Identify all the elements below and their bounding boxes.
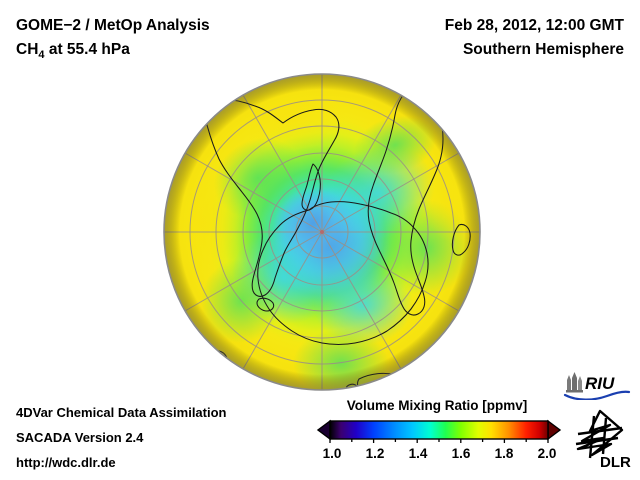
analysis-title: GOME−2 / MetOp Analysis — [16, 14, 210, 38]
colorbar-bar — [310, 419, 568, 443]
figure-footer: 4DVar Chemical Data Assimilation SACADA … — [16, 400, 227, 475]
riu-wordmark: RIU — [585, 374, 615, 393]
timestamp-label: Feb 28, 2012, 12:00 GMT — [445, 14, 624, 38]
figure-title-left: GOME−2 / MetOp Analysis CH4 at 55.4 hPa — [16, 14, 210, 67]
colorbar-tick-4: 1.8 — [495, 446, 514, 461]
figure-canvas: GOME−2 / MetOp Analysis CH4 at 55.4 hPa … — [0, 0, 640, 480]
colorbar-tick-3: 1.6 — [452, 446, 471, 461]
species-name: CH — [16, 41, 38, 58]
colorbar-tick-2: 1.4 — [409, 446, 428, 461]
colorbar-tick-labels: 1.0 1.2 1.4 1.6 1.8 2.0 — [310, 446, 568, 464]
colorbar-tick-1: 1.2 — [366, 446, 385, 461]
dlr-wordmark: DLR — [600, 454, 631, 470]
globe-svg — [163, 73, 481, 391]
colorbar-title: Volume Mixing Ratio [ppmv] — [318, 398, 556, 413]
riu-towers-icon — [566, 372, 583, 393]
footer-url[interactable]: http://wdc.dlr.de — [16, 450, 227, 475]
colorbar-extend-right — [548, 421, 560, 439]
riu-logo: RIU — [563, 370, 631, 400]
coastline-new-zealand-south — [199, 344, 212, 353]
hemisphere-label: Southern Hemisphere — [445, 38, 624, 62]
colorbar-tick-5: 2.0 — [538, 446, 557, 461]
figure-title-right: Feb 28, 2012, 12:00 GMT Southern Hemisph… — [445, 14, 624, 62]
dlr-mark-icon — [576, 411, 622, 458]
colorbar-tick-0: 1.0 — [323, 446, 342, 461]
footer-version: SACADA Version 2.4 — [16, 425, 227, 450]
footer-method: 4DVar Chemical Data Assimilation — [16, 400, 227, 425]
colorbar: Volume Mixing Ratio [ppmv] — [310, 398, 568, 464]
colorbar-extend-left — [318, 421, 330, 439]
globe-map — [163, 73, 481, 391]
species-level-label: CH4 at 55.4 hPa — [16, 38, 210, 67]
pressure-level: at 55.4 hPa — [45, 41, 130, 58]
colorbar-svg — [310, 419, 568, 443]
south-pole-marker — [320, 230, 324, 234]
dlr-logo: DLR — [570, 408, 632, 470]
colorbar-gradient — [330, 421, 548, 439]
